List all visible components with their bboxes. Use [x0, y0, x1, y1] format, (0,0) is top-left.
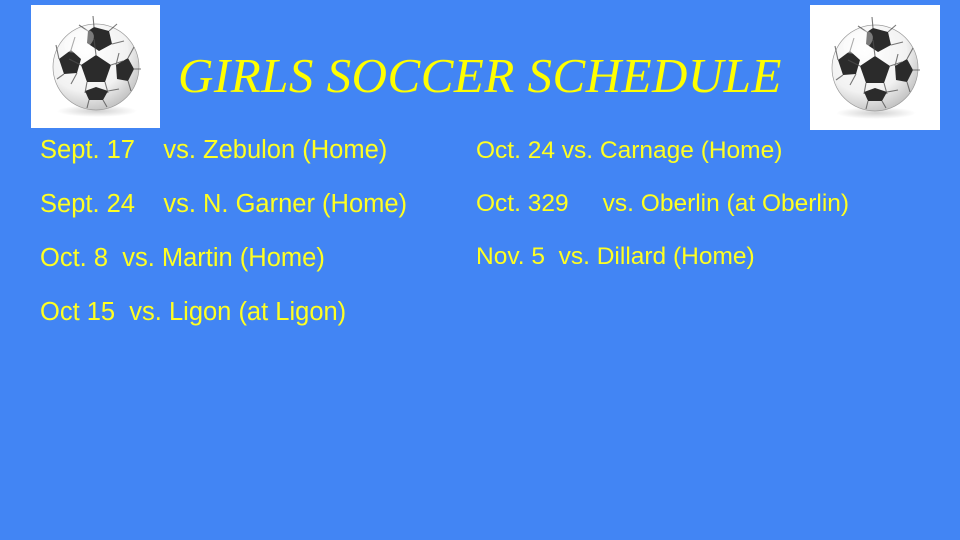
spacer	[555, 137, 562, 164]
game-date: Oct. 8	[40, 244, 108, 272]
schedule-row: Oct. 8 vs. Martin (Home)	[40, 239, 446, 277]
game-opponent: vs. Oberlin (at Oberlin)	[603, 190, 849, 217]
game-opponent: vs. Ligon (at Ligon)	[129, 298, 346, 326]
schedule-row: Oct. 329 vs. Oberlin (at Oberlin)	[476, 186, 906, 222]
game-date: Sept. 17	[40, 136, 135, 164]
schedule-row: Nov. 5 vs. Dillard (Home)	[476, 239, 906, 275]
schedule-row: Sept. 24 vs. N. Garner (Home)	[40, 185, 446, 223]
schedule-row: Oct 15 vs. Ligon (at Ligon)	[40, 293, 446, 331]
game-opponent: vs. Zebulon (Home)	[163, 136, 387, 164]
soccer-ball-image-left[interactable]	[31, 5, 160, 128]
page-title: GIRLS SOCCER SCHEDULE	[176, 48, 784, 104]
spacer	[135, 190, 163, 218]
game-opponent: vs. Martin (Home)	[122, 244, 325, 272]
game-date: Oct. 24	[476, 137, 555, 164]
game-date: Nov. 5	[476, 243, 545, 270]
spacer	[545, 243, 559, 270]
spacer	[108, 244, 122, 272]
soccer-ball-image-right[interactable]	[810, 5, 940, 130]
soccer-ball-icon	[31, 5, 160, 128]
game-date: Sept. 24	[40, 190, 135, 218]
game-opponent: vs. N. Garner (Home)	[163, 190, 407, 218]
game-date: Oct. 329	[476, 190, 569, 217]
soccer-ball-icon	[810, 5, 940, 130]
spacer	[135, 136, 163, 164]
game-opponent: vs. Dillard (Home)	[559, 243, 755, 270]
schedule-column-right: Oct. 24 vs. Carnage (Home) Oct. 329 vs. …	[476, 133, 906, 292]
schedule-row: Sept. 17 vs. Zebulon (Home)	[40, 131, 446, 169]
schedule-row: Oct. 24 vs. Carnage (Home)	[476, 133, 906, 169]
schedule-column-left: Sept. 17 vs. Zebulon (Home) Sept. 24 vs.…	[40, 131, 446, 347]
slide-canvas: GIRLS SOCCER SCHEDULE Sept. 17 vs. Zebul…	[0, 0, 960, 540]
game-date: Oct 15	[40, 298, 115, 326]
game-opponent: vs. Carnage (Home)	[562, 137, 783, 164]
spacer	[569, 190, 603, 217]
spacer	[115, 298, 129, 326]
